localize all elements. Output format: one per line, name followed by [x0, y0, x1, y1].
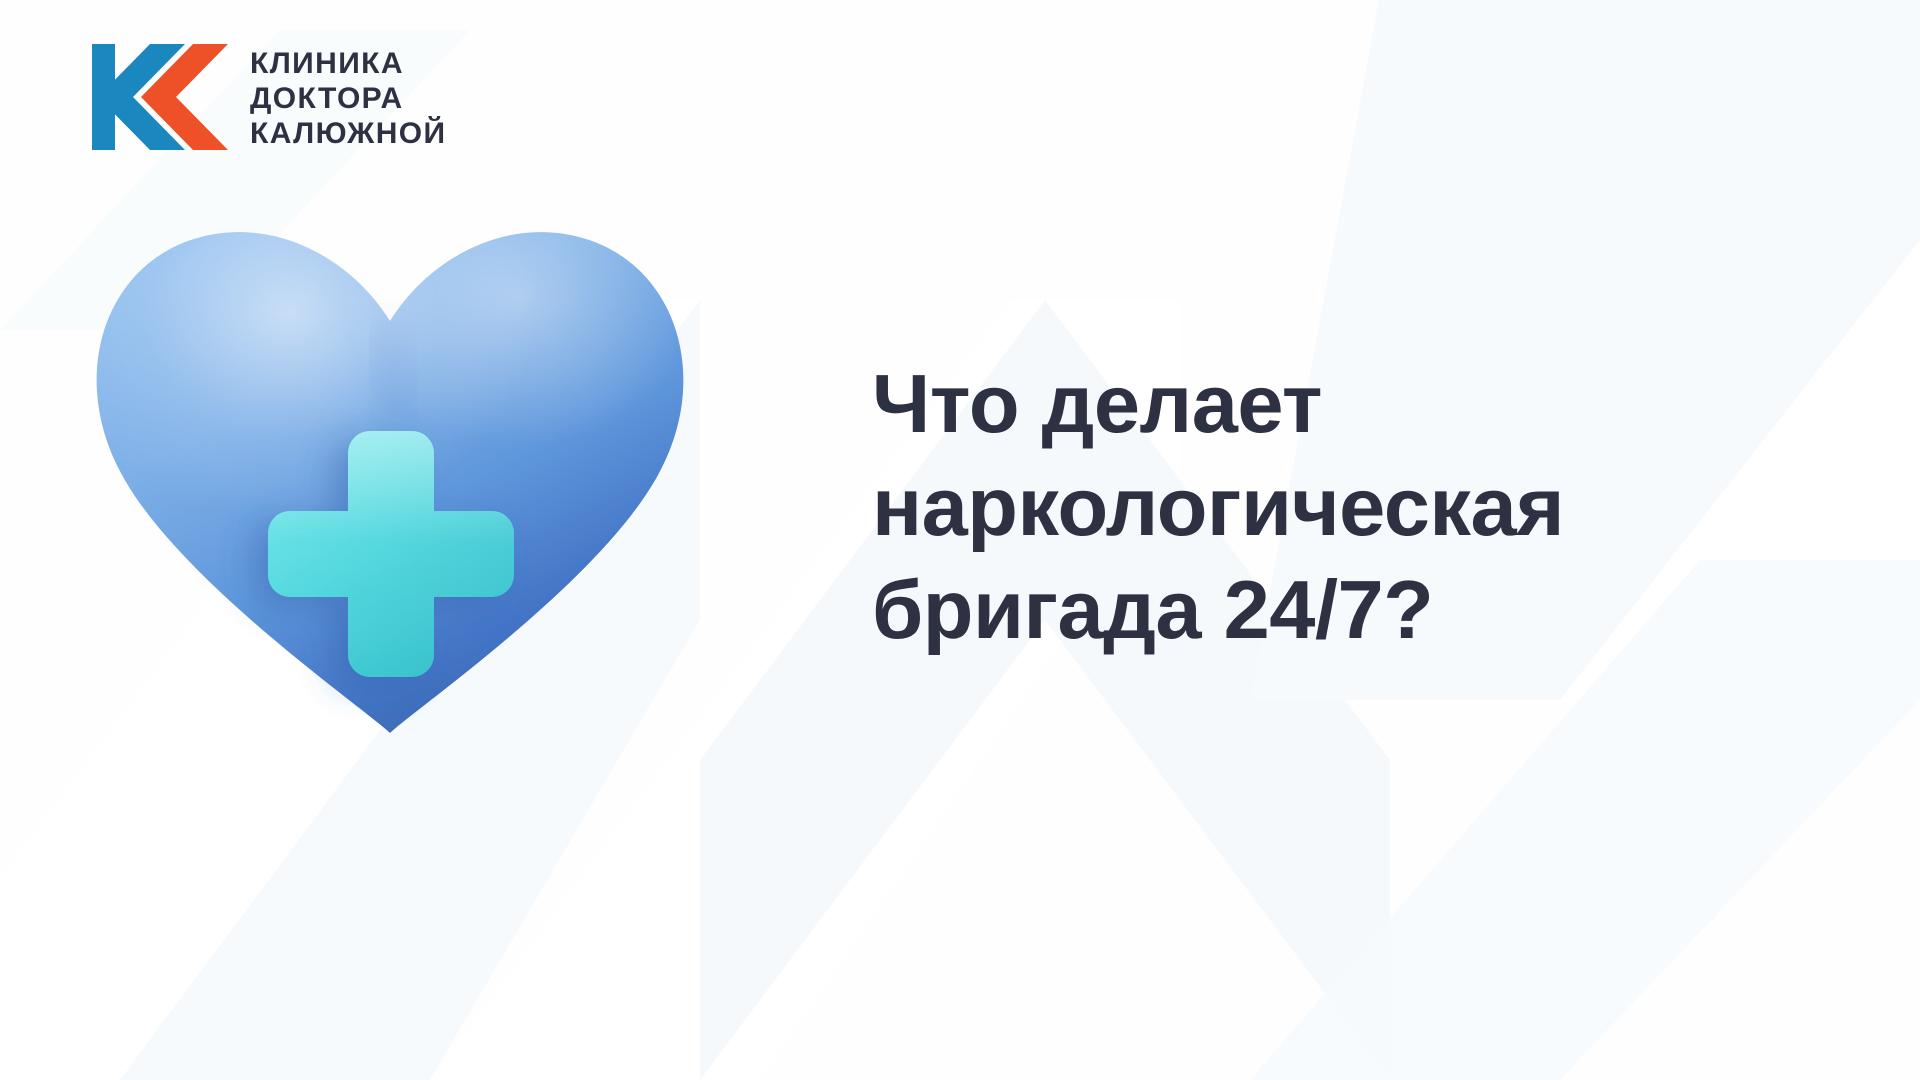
- brand-logo[interactable]: КЛИНИКА ДОКТОРА КАЛЮЖНОЙ: [92, 38, 446, 156]
- heart-illustration: [60, 175, 720, 775]
- headline-line-1: Что делает: [872, 352, 1832, 455]
- kk-chevron-logo-icon: [92, 38, 228, 156]
- brand-logo-text: КЛИНИКА ДОКТОРА КАЛЮЖНОЙ: [250, 45, 446, 149]
- headline-line-2: наркологическая: [872, 455, 1832, 558]
- logo-text-line-2: ДОКТОРА: [250, 84, 446, 114]
- logo-text-line-3: КАЛЮЖНОЙ: [250, 119, 446, 149]
- slide-canvas: КЛИНИКА ДОКТОРА КАЛЮЖНОЙ: [0, 0, 1920, 1080]
- headline-line-3: бригада 24/7?: [872, 558, 1832, 661]
- logo-text-line-1: КЛИНИКА: [250, 49, 446, 79]
- page-title: Что делает наркологическая бригада 24/7?: [872, 352, 1832, 661]
